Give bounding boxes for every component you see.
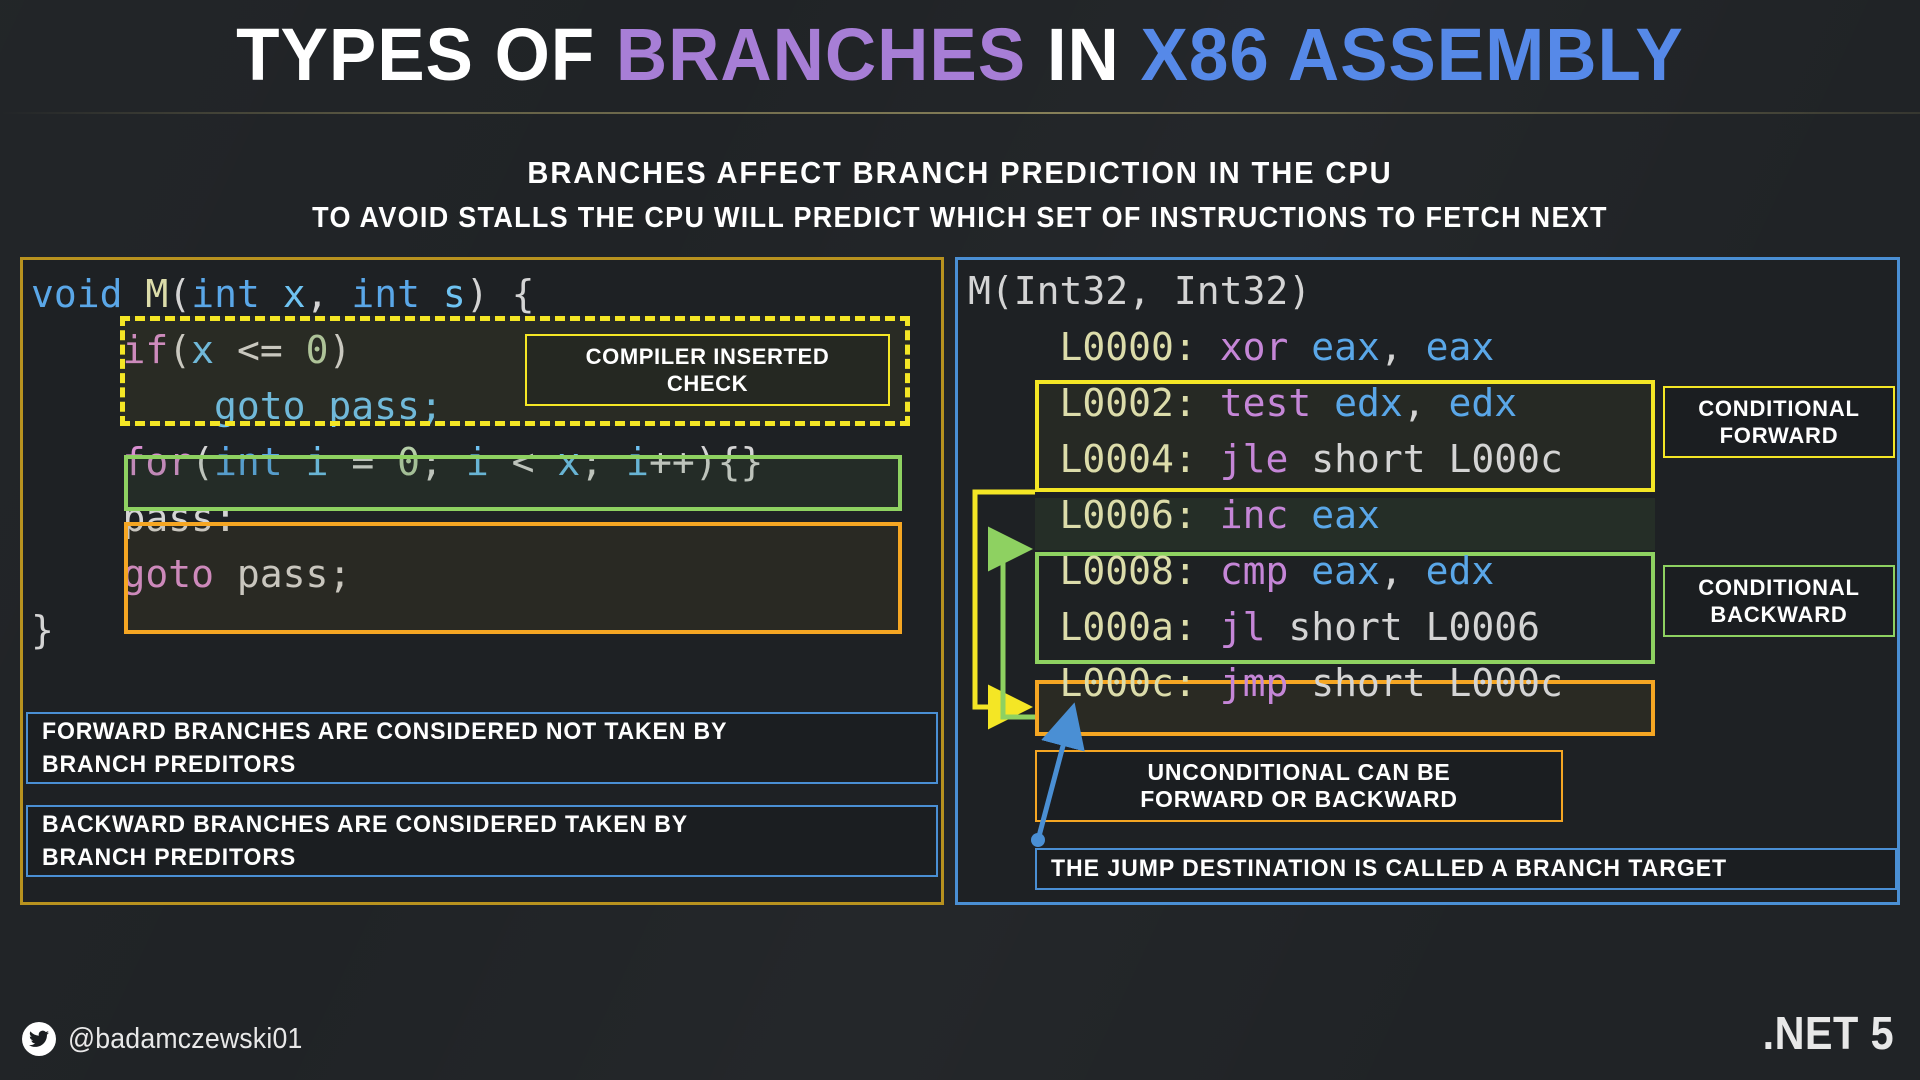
- framework-version: .NET 5: [1762, 1006, 1894, 1060]
- info-branch-target-text: THE JUMP DESTINATION IS CALLED A BRANCH …: [1051, 855, 1727, 883]
- title-part-x86-assembly: X86 ASSEMBLY: [1141, 13, 1684, 96]
- twitter-icon[interactable]: [22, 1022, 56, 1056]
- info-backward-text: BACKWARD BRANCHES ARE CONSIDERED TAKEN B…: [42, 808, 688, 874]
- tag-cond-fwd-line-2: FORWARD: [1720, 423, 1839, 448]
- tag-conditional-backward-text: CONDITIONALBACKWARD: [1698, 574, 1860, 628]
- highlight-for-loop: [124, 455, 902, 511]
- tag-cond-bwd-line-1: CONDITIONAL: [1698, 575, 1860, 600]
- info-branch-target: THE JUMP DESTINATION IS CALLED A BRANCH …: [1035, 848, 1897, 890]
- tag-conditional-forward: CONDITIONALFORWARD: [1663, 386, 1895, 458]
- compiler-inserted-check-note: COMPILER INSERTEDCHECK: [525, 334, 890, 406]
- info-forward-branches: FORWARD BRANCHES ARE CONSIDERED NOT TAKE…: [26, 712, 938, 784]
- info-forward-line-2: BRANCH PREDITORS: [42, 751, 296, 778]
- title-part-in: IN: [1026, 13, 1140, 96]
- title-part-branches: BRANCHES: [616, 13, 1026, 96]
- subtitle-line-1: BRANCHES AFFECT BRANCH PREDICTION IN THE…: [58, 155, 1863, 191]
- tag-unconditional-jump: UNCONDITIONAL CAN BEFORWARD OR BACKWARD: [1035, 750, 1563, 822]
- info-backward-line-1: BACKWARD BRANCHES ARE CONSIDERED TAKEN B…: [42, 811, 688, 838]
- tag-uncond-line-2: FORWARD OR BACKWARD: [1140, 786, 1458, 812]
- tag-uncond-line-1: UNCONDITIONAL CAN BE: [1147, 759, 1450, 785]
- assembly-code-block: M(Int32, Int32) L0000: xor eax, eax L000…: [968, 263, 1563, 711]
- tag-cond-fwd-line-1: CONDITIONAL: [1698, 396, 1860, 421]
- tag-unconditional-text: UNCONDITIONAL CAN BEFORWARD OR BACKWARD: [1140, 759, 1458, 813]
- tag-conditional-forward-text: CONDITIONALFORWARD: [1698, 395, 1860, 449]
- twitter-bird-glyph: [29, 1030, 49, 1048]
- title-part-types-of: TYPES OF: [236, 13, 616, 96]
- info-backward-line-2: BRANCH PREDITORS: [42, 844, 296, 871]
- info-forward-line-1: FORWARD BRANCHES ARE CONSIDERED NOT TAKE…: [42, 718, 727, 745]
- page-title: TYPES OF BRANCHES IN X86 ASSEMBLY: [236, 12, 1684, 97]
- highlight-pass-label-block: [124, 522, 902, 634]
- title-divider: [0, 112, 1920, 114]
- compiler-check-line-1: COMPILER INSERTED: [586, 344, 830, 369]
- info-backward-branches: BACKWARD BRANCHES ARE CONSIDERED TAKEN B…: [26, 805, 938, 877]
- compiler-check-line-2: CHECK: [667, 371, 748, 396]
- footer-author: @badamczewski01: [22, 1022, 323, 1056]
- tag-cond-bwd-line-2: BACKWARD: [1710, 602, 1847, 627]
- info-forward-text: FORWARD BRANCHES ARE CONSIDERED NOT TAKE…: [42, 715, 727, 781]
- tag-conditional-backward: CONDITIONALBACKWARD: [1663, 565, 1895, 637]
- author-handle[interactable]: @badamczewski01: [68, 1023, 302, 1056]
- subtitle-line-2: TO AVOID STALLS THE CPU WILL PREDICT WHI…: [67, 202, 1853, 235]
- compiler-inserted-check-text: COMPILER INSERTEDCHECK: [586, 343, 830, 397]
- title-bar: TYPES OF BRANCHES IN X86 ASSEMBLY: [0, 0, 1920, 108]
